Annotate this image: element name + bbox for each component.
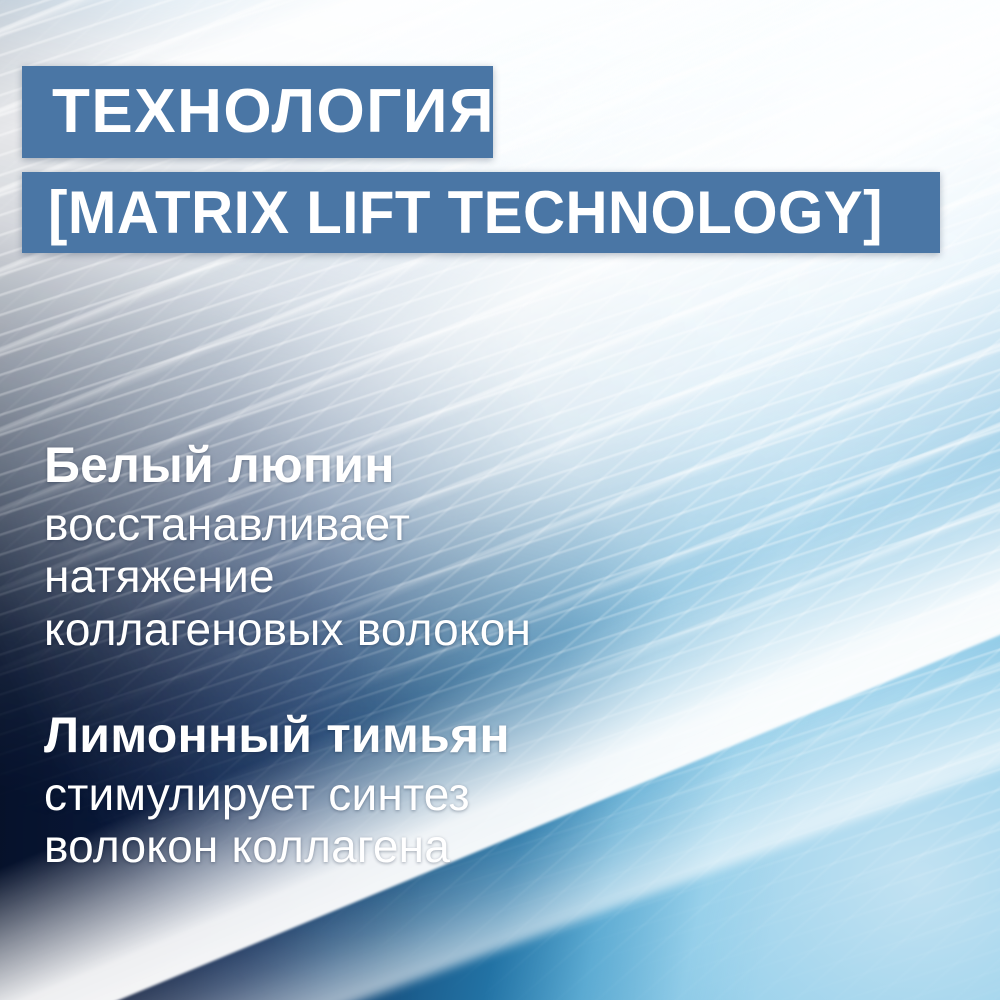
ingredient-heading-white-lupin: Белый люпин — [44, 438, 531, 492]
banner-matrix-lift-technology: [MATRIX LIFT TECHNOLOGY] — [22, 172, 940, 253]
ingredient-block-lemon-thyme: Лимонный тимьян стимулирует синтез волок… — [44, 708, 510, 873]
ingredient-line: стимулирует синтез — [44, 768, 510, 820]
banner-matrix-lift-label: [MATRIX LIFT TECHNOLOGY] — [48, 183, 883, 243]
banner-technology: ТЕХНОЛОГИЯ — [22, 66, 493, 158]
ingredient-line: волокон коллагена — [44, 820, 510, 872]
banner-technology-label: ТЕХНОЛОГИЯ — [52, 81, 495, 143]
ingredient-heading-lemon-thyme: Лимонный тимьян — [44, 708, 510, 762]
ingredient-block-white-lupin: Белый люпин восстанавливает натяжение ко… — [44, 438, 531, 655]
ingredient-line: коллагеновых волокон — [44, 603, 531, 655]
ingredient-line: восстанавливает — [44, 498, 531, 550]
ingredient-line: натяжение — [44, 550, 531, 602]
product-technology-poster: ТЕХНОЛОГИЯ [MATRIX LIFT TECHNOLOGY] Белы… — [0, 0, 1000, 1000]
